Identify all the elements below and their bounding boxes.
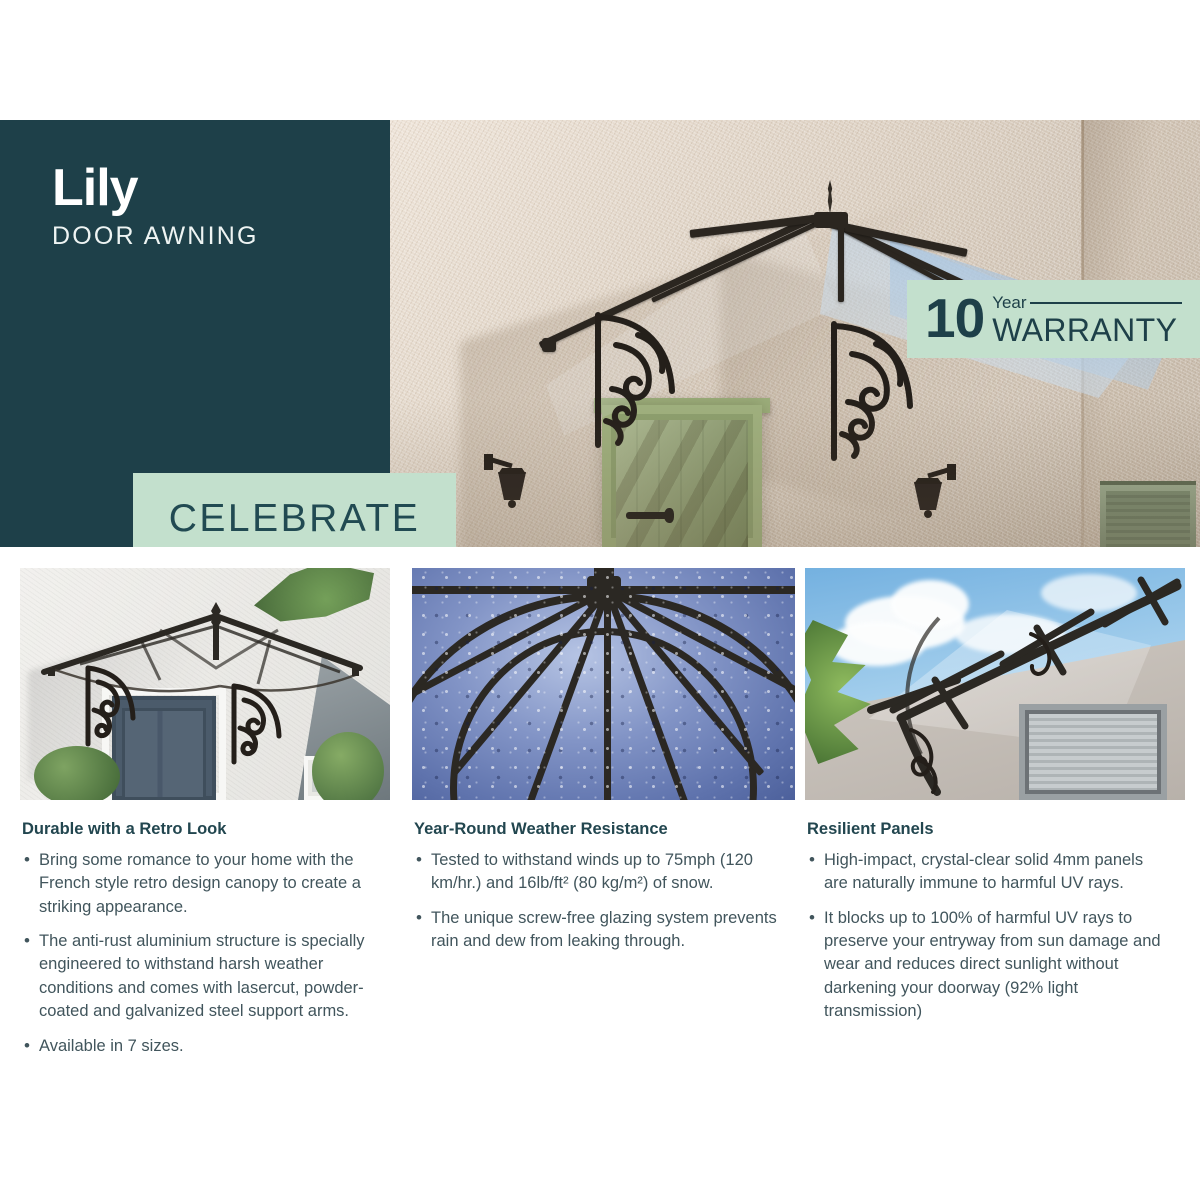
- list-item: Tested to withstand winds up to 75mph (1…: [414, 849, 782, 896]
- feature-column-1: Durable with a Retro Look Bring some rom…: [22, 820, 374, 1069]
- product-subtitle: DOOR AWNING: [52, 222, 259, 251]
- feature-image-3: [805, 568, 1185, 800]
- feature-heading-1: Durable with a Retro Look: [22, 820, 374, 840]
- list-item: Available in 7 sizes.: [22, 1035, 374, 1058]
- feature-list-2: Tested to withstand winds up to 75mph (1…: [414, 849, 782, 954]
- warranty-years-number: 10: [925, 294, 984, 344]
- product-title: Lily: [52, 162, 259, 214]
- feature-heading-3: Resilient Panels: [807, 820, 1167, 840]
- warranty-text-block: Year WARRANTY: [992, 293, 1181, 346]
- list-item: High-impact, crystal-clear solid 4mm pan…: [807, 849, 1167, 896]
- ground-shadow: [390, 397, 1200, 547]
- awning-hub: [814, 212, 848, 228]
- warranty-badge: 10 Year WARRANTY: [907, 280, 1200, 358]
- thumb1-plant-left: [34, 746, 120, 800]
- warranty-rule-divider: [1030, 302, 1182, 304]
- thumb3-window: [1019, 704, 1167, 800]
- feature-list-1: Bring some romance to your home with the…: [22, 849, 374, 1058]
- warranty-year-label: Year: [992, 293, 1026, 313]
- feature-heading-2: Year-Round Weather Resistance: [414, 820, 782, 840]
- feature-image-1: [20, 568, 390, 800]
- finial-icon: [825, 180, 835, 214]
- hero-banner: Lily DOOR AWNING CELEBRATE OUTDOOR LIVIN…: [0, 120, 1200, 547]
- feature-image-row: [0, 568, 1200, 800]
- warranty-label: WARRANTY: [992, 314, 1181, 346]
- list-item: The anti-rust aluminium structure is spe…: [22, 930, 374, 1024]
- awning-center-post: [838, 224, 844, 302]
- warranty-year-row: Year: [992, 293, 1181, 313]
- feature-image-2: [412, 568, 795, 800]
- celebrate-badge: CELEBRATE OUTDOOR LIVING: [133, 473, 456, 547]
- list-item: The unique screw-free glazing system pre…: [414, 907, 782, 954]
- thumb1-plant-right: [312, 732, 384, 800]
- awning-end-cap-left: [542, 338, 556, 352]
- feature-list-3: High-impact, crystal-clear solid 4mm pan…: [807, 849, 1167, 1024]
- celebrate-headline: CELEBRATE: [169, 499, 421, 538]
- thumb2-raindrops: [412, 568, 795, 800]
- feature-column-3: Resilient Panels High-impact, crystal-cl…: [807, 820, 1167, 1035]
- list-item: It blocks up to 100% of harmful UV rays …: [807, 907, 1167, 1024]
- brand-block: Lily DOOR AWNING: [52, 162, 259, 251]
- feature-column-2: Year-Round Weather Resistance Tested to …: [414, 820, 782, 964]
- list-item: Bring some romance to your home with the…: [22, 849, 374, 919]
